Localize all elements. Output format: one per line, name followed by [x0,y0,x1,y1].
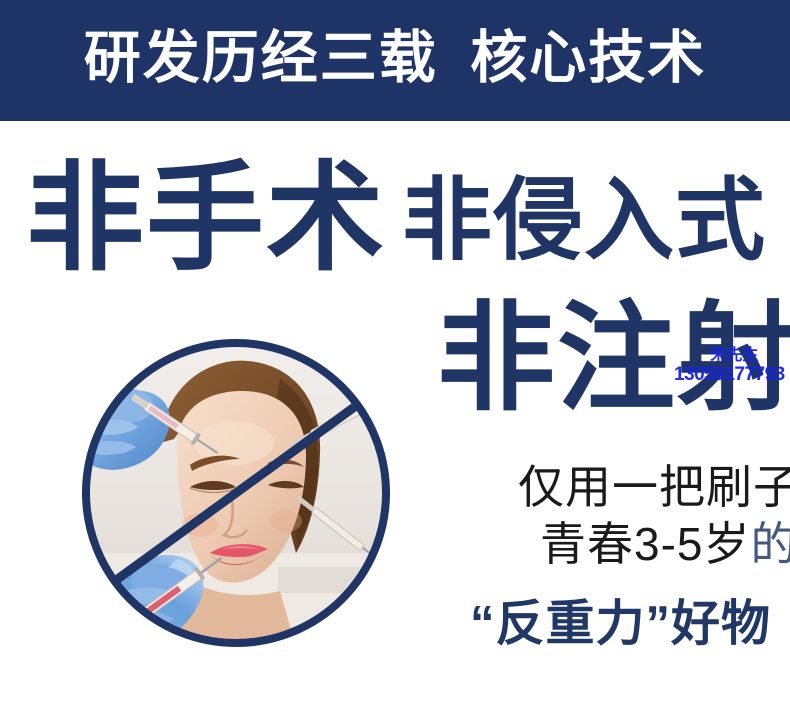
watermark-phone: 13059177793 [674,365,785,385]
header-banner: 研发历经三载 核心技术 [0,0,790,121]
poster-root: 研发历经三载 核心技术 非手术 非侵入式 非注射 [0,0,790,726]
banner-title: 研发历经三载 核心技术 [84,30,707,91]
subcopy-line-3: “反重力”好物 [470,600,771,649]
prohibited-injection-photo [82,339,390,647]
subcopy-line-2-accent: 的 [750,518,790,570]
photo-clip [82,339,390,647]
headline-non-invasive: 非侵入式 [402,176,766,266]
watermark-name: 宋先生 [710,347,758,364]
woman-facial-injection-illustration [82,339,390,647]
subcopy-line-2-main: 青春3-5岁 [540,518,750,570]
subcopy-line-1: 仅用一把刷子 [518,464,790,510]
headline-non-surgical: 非手术 [26,160,386,278]
watermark: 宋先生 13059177793 [684,348,785,385]
subcopy-line-2: 青春3-5岁的 [540,521,790,567]
